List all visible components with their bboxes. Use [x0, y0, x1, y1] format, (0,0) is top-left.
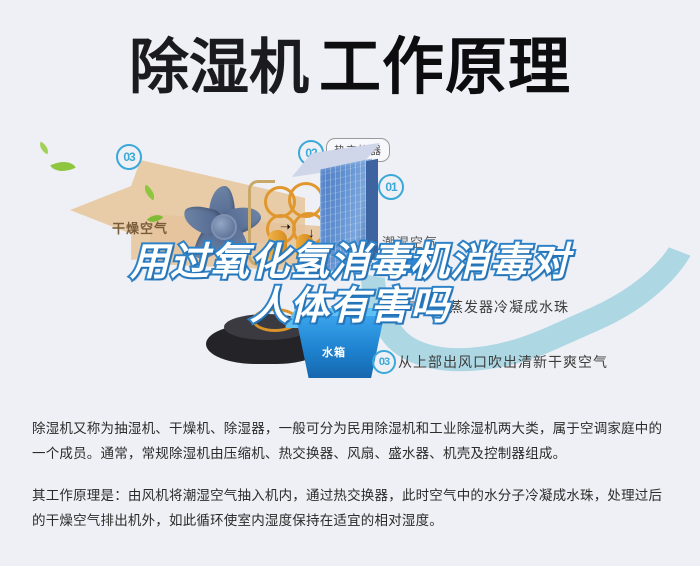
article-paragraph-1: 除湿机又称为抽湿机、干燥机、除湿器，一般可分为民用除湿机和工业除湿机两大类，属于… — [32, 416, 672, 466]
article-body: 除湿机又称为抽湿机、干燥机、除湿器，一般可分为民用除湿机和工业除湿机两大类，属于… — [32, 416, 672, 533]
flow-arrow-right-icon: ➝ — [280, 220, 291, 233]
moist-air-label: 潮湿空气 — [382, 232, 438, 251]
caption-step-03: 从上部出风口吹出清新干爽空气 — [398, 352, 608, 372]
leaf-icon — [37, 142, 51, 155]
leaf-icon — [50, 156, 75, 177]
dry-air-label: 干燥空气 — [112, 218, 168, 237]
page-title-part2: 工作原理 — [319, 37, 571, 99]
compressor-coils: ➝ ↓ ↑ — [262, 180, 328, 266]
page-title: 除湿机 工作原理 — [0, 26, 700, 110]
step-badge-03: 03 — [116, 144, 142, 170]
flow-arrow-up-icon: ↑ — [272, 242, 279, 255]
heat-exchanger-side — [366, 159, 378, 262]
page-root: 除湿机 工作原理 干燥空气 03 02 01 热交换器 — [0, 0, 700, 566]
heat-exchanger-icon — [320, 158, 372, 273]
water-tank-label: 水箱 — [322, 344, 346, 360]
caption-step-badge-03: 03 — [372, 350, 396, 374]
page-title-part1: 除湿机 — [129, 38, 309, 98]
flow-arrow-down-icon: ↓ — [308, 226, 315, 239]
step-badge-01: 01 — [378, 174, 404, 200]
article-paragraph-2: 其工作原理是：由风机将潮湿空气抽入机内，通过热交换器，此时空气中的水分子冷凝成水… — [32, 483, 672, 533]
caption-step-02: 气经过蒸发器冷凝成水珠 — [404, 297, 569, 317]
fan-hub — [211, 214, 237, 240]
